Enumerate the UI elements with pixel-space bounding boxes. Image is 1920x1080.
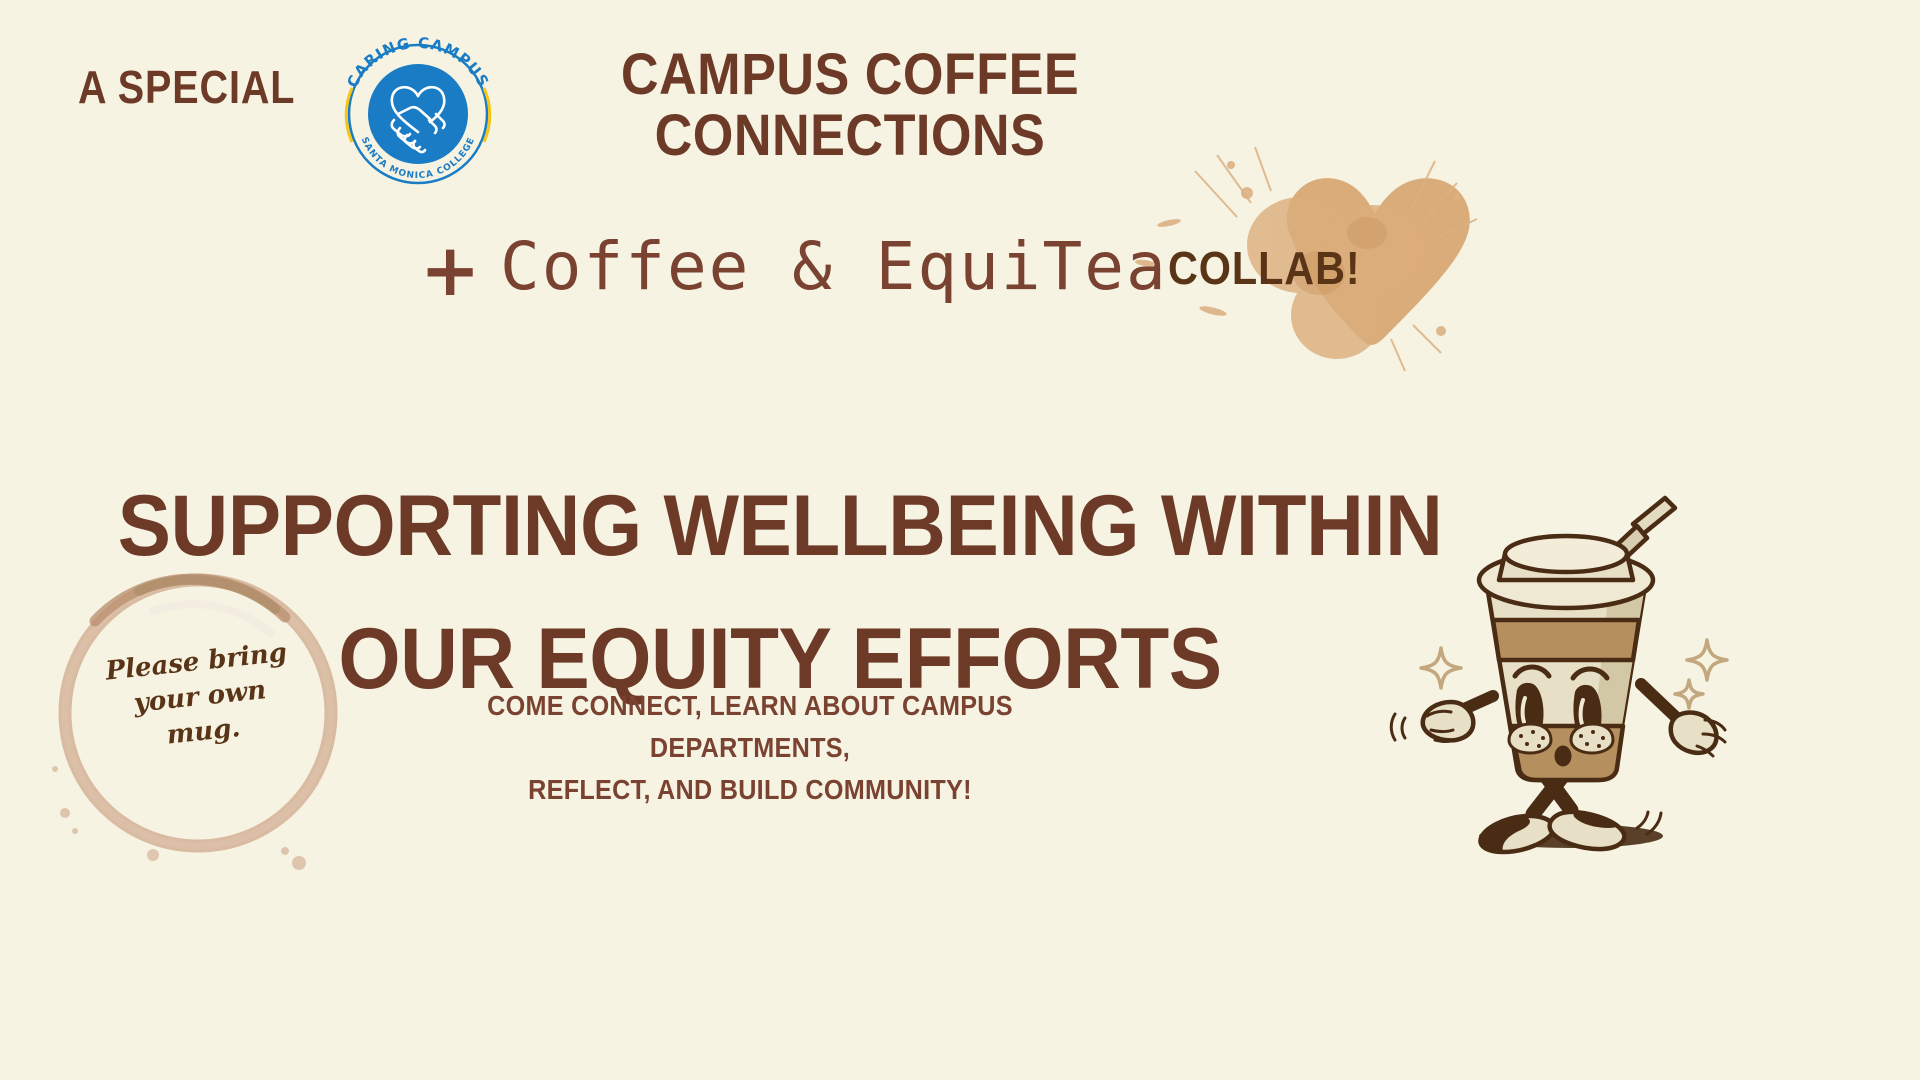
body-line-2: REFLECT, AND BUILD COMMUNITY! — [417, 769, 1083, 811]
poster-canvas: A SPECIAL C — [0, 0, 1920, 1080]
walking-coffee-cup-mascot — [1375, 468, 1750, 858]
title-line-2: CONNECTIONS — [571, 105, 1129, 166]
body-copy: COME CONNECT, LEARN ABOUT CAMPUS DEPARTM… — [380, 685, 1120, 811]
collab-badge: COLLAB! — [1168, 241, 1361, 295]
plus-icon: + — [420, 234, 480, 306]
page-title: CAMPUS COFFEE CONNECTIONS — [540, 44, 1160, 167]
partner-name: Coffee & EquiTea — [500, 228, 1168, 305]
eyebrow-text: A SPECIAL — [78, 60, 295, 114]
title-line-1: CAMPUS COFFEE — [571, 44, 1129, 105]
mug-note-line-3: mug. — [165, 713, 241, 751]
caring-campus-logo: CARING CAMPUS SANTA MONICA COLLEGE — [332, 34, 504, 186]
body-line-1: COME CONNECT, LEARN ABOUT CAMPUS DEPARTM… — [417, 685, 1083, 769]
mug-note: Please bring your own mug. — [90, 634, 310, 761]
